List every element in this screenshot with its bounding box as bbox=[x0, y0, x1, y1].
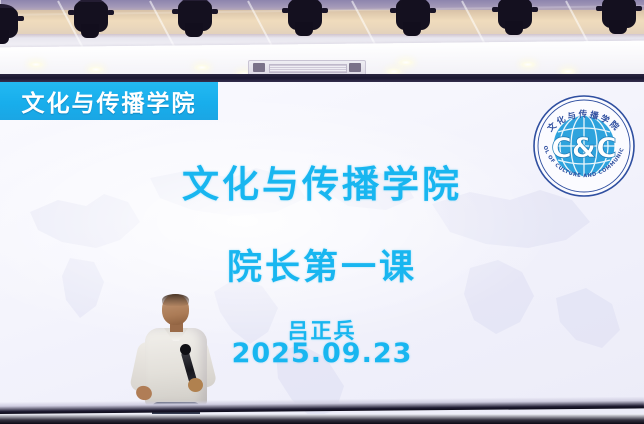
stage-light-3 bbox=[172, 0, 218, 35]
stage-light-tail bbox=[295, 22, 313, 36]
stage-light-yoke-right bbox=[531, 7, 538, 12]
stage-light-tail bbox=[609, 20, 627, 34]
stage-light-yoke-right bbox=[635, 6, 642, 11]
slide-subtitle: 院长第一课 bbox=[0, 239, 644, 290]
college-banner: 文化与传播学院 bbox=[0, 82, 218, 120]
vent-cap-right bbox=[349, 63, 361, 72]
slide-title: 文化与传播学院 bbox=[0, 154, 644, 208]
stage-light-yoke-right bbox=[321, 8, 328, 13]
slide-date: 2025.09.23 bbox=[0, 338, 644, 369]
presenter-figure bbox=[128, 294, 224, 414]
downlight-3 bbox=[194, 64, 210, 71]
stage-light-6 bbox=[492, 0, 538, 33]
projection-screen: 文化与传播学院 C&C 文化与传播学院 bbox=[0, 82, 644, 414]
stage-light-2 bbox=[68, 0, 114, 36]
stage-light-yoke-right bbox=[211, 9, 218, 14]
stage-light-tail bbox=[81, 24, 99, 38]
stage-light-tail bbox=[0, 30, 9, 44]
stage-light-4 bbox=[282, 0, 328, 34]
vent-grille bbox=[269, 64, 347, 73]
stage-light-5 bbox=[390, 0, 436, 34]
stage-light-yoke-right bbox=[429, 8, 436, 13]
stage-light-tail bbox=[403, 22, 421, 36]
stage-light-tail bbox=[505, 21, 523, 35]
presenter-right-hand bbox=[188, 378, 203, 392]
stage-light-yoke-right bbox=[107, 10, 114, 15]
stage-floor-shadow bbox=[0, 414, 644, 424]
presenter-hair bbox=[162, 294, 189, 306]
stage-light-1 bbox=[0, 2, 24, 42]
downlight-7 bbox=[520, 61, 536, 68]
microphone-capsule bbox=[180, 344, 191, 355]
downlight-2 bbox=[88, 66, 104, 73]
ceiling bbox=[0, 0, 644, 76]
stage-light-yoke-right bbox=[17, 16, 24, 21]
downlight-1 bbox=[28, 61, 44, 68]
college-banner-label: 文化与传播学院 bbox=[22, 84, 197, 118]
stage-light-7 bbox=[596, 0, 642, 32]
stage-light-tail bbox=[185, 23, 203, 37]
presentation-photo: 文化与传播学院 C&C 文化与传播学院 bbox=[0, 0, 644, 424]
downlight-6 bbox=[398, 59, 414, 66]
screen-bottom-edge bbox=[0, 396, 644, 414]
vent-cap-left bbox=[253, 63, 265, 72]
